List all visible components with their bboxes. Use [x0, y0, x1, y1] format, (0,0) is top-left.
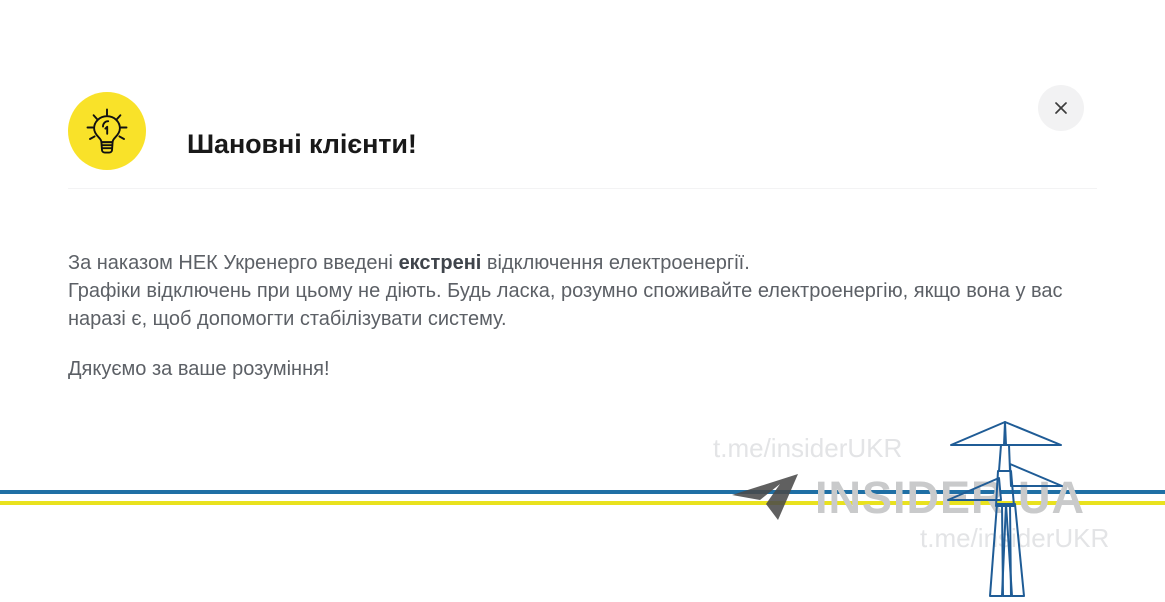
ribbon-line-blue: [0, 490, 1165, 494]
lightbulb-icon: [82, 106, 132, 156]
close-button[interactable]: [1038, 85, 1084, 131]
dialog-header: Шановні клієнти!: [0, 0, 1165, 189]
ribbon-line-yellow: [0, 501, 1165, 505]
close-icon: [1053, 100, 1069, 116]
telegram-plane-icon: [728, 468, 808, 524]
paragraph-1-text-after: відключення електроенергії.: [481, 252, 749, 274]
page-title: Шановні клієнти!: [187, 129, 417, 160]
power-pylon-icon: [944, 416, 1066, 602]
lightbulb-badge: [68, 92, 146, 170]
watermark-brand: INSIDER UA: [815, 472, 1085, 524]
header-divider: [68, 188, 1097, 189]
watermark-handle-top: t.me/insiderUKR: [713, 433, 902, 464]
dialog-body: За наказом НЕК Укренерго введені екстрен…: [68, 249, 1098, 383]
notification-dialog: Шановні клієнти! За наказом НЕК Укренерг…: [0, 0, 1165, 602]
paragraph-1-text-before: За наказом НЕК Укренерго введені: [68, 252, 399, 274]
body-paragraph-3: Дякуємо за ваше розуміння!: [68, 355, 1098, 383]
body-paragraph-1: За наказом НЕК Укренерго введені екстрен…: [68, 249, 1098, 277]
watermark-handle-bottom: t.me/insiderUKR: [920, 523, 1109, 554]
body-paragraph-2: Графіки відключень при цьому не діють. Б…: [68, 277, 1098, 333]
paragraph-1-emphasis: екстрені: [399, 252, 482, 274]
